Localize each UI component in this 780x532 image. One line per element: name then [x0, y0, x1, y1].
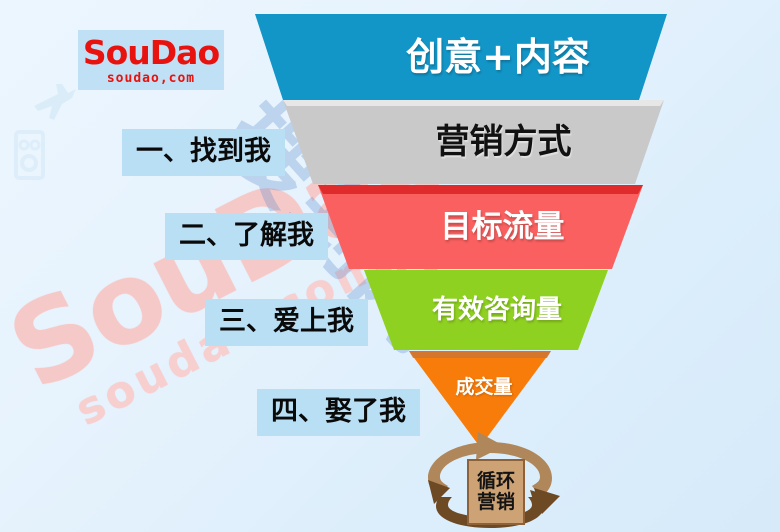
cycle-label-line1: 循环 [477, 471, 515, 492]
funnel-band-effective-inquiries: 有效咨询量 [364, 270, 608, 350]
soudao-logo: SouDao soudao,com [78, 30, 224, 90]
poster-canvas: SouDao soudao.com 搜到网 SouDao soudao,com … [0, 0, 780, 532]
cycle-marketing-loop: 循环 营销 [404, 428, 576, 532]
funnel-band-label-1: 营销方式 [376, 125, 572, 159]
logo-name: SouDao [83, 36, 219, 69]
logo-domain: soudao,com [107, 72, 195, 85]
cycle-label-box: 循环 营销 [467, 459, 525, 525]
funnel-band-label-2: 目标流量 [397, 212, 565, 243]
funnel-band-label-4: 成交量 [447, 378, 512, 421]
funnel-band-creative-content: 创意+内容 [255, 14, 667, 100]
funnel-band-marketing-method: 营销方式 [283, 100, 664, 184]
step-label-2: 二、了解我 [165, 213, 328, 260]
step-label-3: 三、爱上我 [205, 299, 368, 346]
cycle-label-line2: 营销 [477, 492, 515, 513]
step-label-4: 四、娶了我 [257, 389, 420, 436]
step-label-1: 一、找到我 [122, 129, 285, 176]
funnel-band-label-0: 创意+内容 [332, 38, 590, 76]
funnel-band-label-3: 有效咨询量 [410, 297, 562, 323]
funnel-band-target-traffic: 目标流量 [318, 185, 643, 269]
